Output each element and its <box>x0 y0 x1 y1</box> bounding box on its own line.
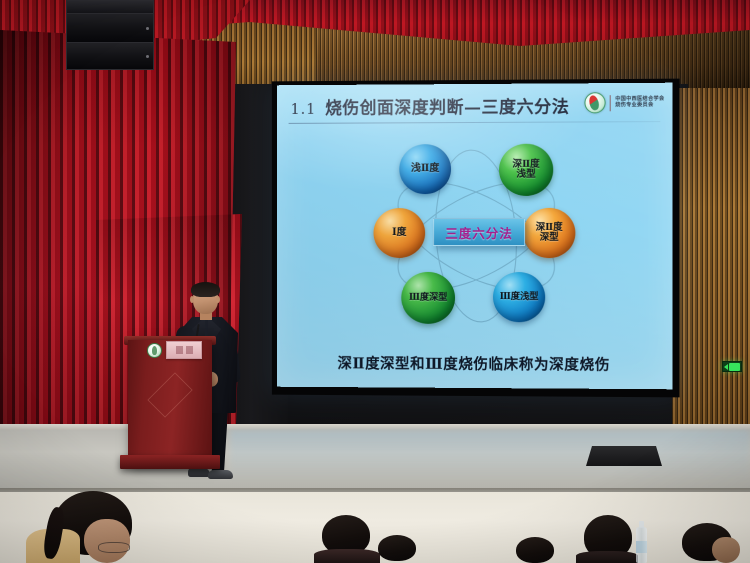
audience-shoulders <box>314 549 380 563</box>
conference-hall-photo: 1.1 烧伤创面深度判断—三度六分法 中国中西医结合学会 烧伤专业委员会 <box>0 0 750 563</box>
society-emblem-icon <box>585 92 606 113</box>
speaker-cabinet-top <box>66 0 154 14</box>
six-degree-diagram: 浅Ⅱ度 深Ⅱ度 浅型 深Ⅱ度 深型 Ⅲ度浅型 Ⅲ度深型 Ⅰ度 三度六分法 <box>372 142 582 331</box>
center-label-text: 三度六分法 <box>445 222 513 241</box>
society-logo: 中国中西医结合学会 烧伤专业委员会 <box>585 92 665 114</box>
water-bottle-icon <box>636 527 647 563</box>
node-3-du-qian: Ⅲ度浅型 <box>493 272 545 322</box>
audience-face <box>84 519 130 563</box>
slide-caption: 深Ⅱ度深型和Ⅲ度烧伤临床称为深度烧伤 <box>277 352 673 375</box>
institution-emblem-icon <box>147 343 162 358</box>
audience-shoulders <box>576 551 638 563</box>
bottle-label <box>636 541 647 553</box>
presenter-right-shoe <box>208 470 233 479</box>
logo-divider <box>610 95 611 111</box>
node-1-du: Ⅰ度 <box>373 208 425 258</box>
exit-running-man-icon <box>729 363 740 371</box>
projection-screen: 1.1 烧伤创面深度判断—三度六分法 中国中西医结合学会 烧伤专业委员会 <box>277 83 673 390</box>
center-label-banner: 三度六分法 <box>433 218 525 246</box>
audience-head <box>378 535 416 561</box>
plate-glyph-1 <box>176 346 183 354</box>
presenter-hair <box>191 282 220 297</box>
plate-glyph-2 <box>186 346 193 354</box>
title-divider <box>289 121 661 124</box>
node-shen-2-du-qian: 深Ⅱ度 浅型 <box>499 144 553 196</box>
audience-face <box>712 537 740 563</box>
list-item <box>576 515 638 563</box>
audience-head <box>516 537 554 563</box>
node-3-du-shen: Ⅲ度深型 <box>401 272 455 324</box>
list-item <box>372 535 422 563</box>
slide-number: 1.1 <box>291 102 317 118</box>
exit-arrow-icon <box>724 364 728 370</box>
eyeglasses-icon <box>98 542 130 553</box>
speaker-cabinet-bottom <box>66 42 154 70</box>
presenter-left-shoe <box>188 468 210 477</box>
society-logo-text: 中国中西医结合学会 烧伤专业委员会 <box>615 97 664 109</box>
podium-name-plate <box>166 341 202 359</box>
slide-heading: 烧伤创面深度判断—三度六分法 <box>325 92 569 118</box>
presenter-ear-left <box>190 296 194 303</box>
list-item <box>512 537 558 563</box>
loudspeaker-array-icon <box>66 0 154 72</box>
podium-base <box>120 455 220 469</box>
node-qian-2-du: 浅Ⅱ度 <box>399 144 451 194</box>
stage-monitor-icon <box>586 446 662 466</box>
list-item <box>314 517 380 563</box>
node-shen-2-du-shen: 深Ⅱ度 深型 <box>523 208 575 258</box>
list-item <box>672 523 742 563</box>
speaker-cabinet-middle <box>66 13 154 43</box>
emergency-exit-icon <box>722 361 742 372</box>
society-name-line2: 烧伤专业委员会 <box>615 102 664 108</box>
presenter-ear-right <box>216 296 220 303</box>
podium-diamond-motif <box>147 372 192 417</box>
list-item <box>26 491 158 563</box>
